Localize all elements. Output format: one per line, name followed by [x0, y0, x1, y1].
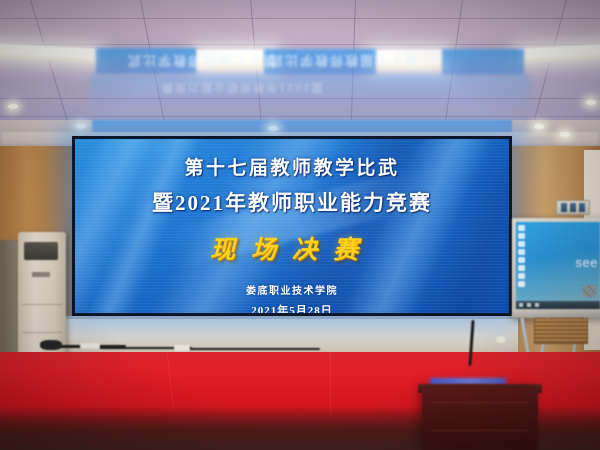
conference-hall-photo: 第十七届教师教学比武 第十七届教师教学比武 暨2021年教师职业能力竞赛	[0, 0, 600, 450]
banner-title-line-2: 暨2021年教师职业能力竞赛	[152, 187, 432, 217]
wall-air-grille	[534, 318, 588, 344]
cable-connector	[174, 345, 190, 351]
ceiling-grid-line	[0, 18, 600, 19]
taskbar-app-icon[interactable]	[527, 303, 531, 307]
podium-panel-line	[432, 402, 528, 403]
soffit-downlight	[534, 124, 544, 129]
baseboard-top-edge	[62, 316, 518, 319]
soffit-downlight	[76, 124, 86, 129]
air-conditioner-side	[0, 240, 18, 358]
led-display-surface: 第十七届教师教学比武 暨2021年教师职业能力竞赛 现场决赛 娄底职业技术学院 …	[75, 139, 509, 313]
led-display-screen: 第十七届教师教学比武 暨2021年教师职业能力竞赛 现场决赛 娄底职业技术学院 …	[72, 136, 512, 316]
soffit-downlight	[560, 132, 570, 137]
ceiling-reflection-text-row1: 第十七届教师教学比武	[126, 52, 276, 71]
led-banner-content: 第十七届教师教学比武 暨2021年教师职业能力竞赛 现场决赛 娄底职业技术学院 …	[75, 139, 509, 313]
floor-object	[496, 336, 506, 343]
air-conditioner-seam	[22, 304, 62, 305]
desktop-icon[interactable]	[518, 233, 525, 239]
banner-title-line-1: 第十七届教师教学比武	[184, 153, 399, 180]
ceiling-light-strip	[518, 43, 600, 63]
cable-connector	[80, 343, 100, 349]
banner-organization: 娄底职业技术学院	[246, 282, 338, 297]
wall-panel-cell	[570, 203, 576, 212]
ceiling-grid-line	[532, 0, 567, 128]
interactive-whiteboard[interactable]: see	[512, 218, 600, 318]
floor-cable	[190, 348, 320, 350]
banner-highlight-text: 现场决赛	[210, 230, 374, 266]
desktop-icon[interactable]	[518, 249, 525, 255]
ceiling-reflection-text-row1b: 第十七届教师教学比武	[268, 52, 418, 71]
desktop-icon[interactable]	[518, 241, 525, 247]
air-conditioner-seam	[22, 332, 62, 333]
banner-date: 2021年5月28日	[251, 302, 333, 313]
desktop-taskbar[interactable]	[516, 301, 600, 309]
ceiling-downlight	[8, 104, 18, 109]
ceiling-light-strip	[0, 43, 100, 64]
qr-code-icon	[583, 285, 596, 297]
ceiling-grid-line	[0, 116, 600, 117]
ceiling-downlight	[586, 100, 596, 105]
ceiling: 第十七届教师教学比武 第十七届教师教学比武 暨2021年教师职业能力竞赛	[0, 0, 600, 132]
ceiling-screen-reflection	[442, 49, 524, 75]
ceiling-grid-line	[0, 44, 600, 45]
speaker-podium	[422, 388, 538, 450]
desktop-icon[interactable]	[518, 273, 525, 279]
whiteboard-bottom-bezel	[512, 309, 600, 318]
wall-panel-cell	[579, 203, 585, 212]
desktop-icon-list	[518, 225, 525, 287]
wall-control-panel[interactable]	[556, 200, 590, 215]
air-conditioner-logo	[32, 272, 50, 277]
taskbar-start-icon[interactable]	[519, 303, 523, 307]
carpet-seam	[167, 352, 174, 412]
desktop-icon[interactable]	[518, 225, 525, 231]
soffit-downlight	[268, 126, 278, 131]
desktop-icon[interactable]	[518, 265, 525, 271]
desktop-icon[interactable]	[518, 257, 525, 263]
whiteboard-brand-text: see	[576, 255, 598, 270]
cable-bundle	[40, 340, 62, 350]
taskbar-app-icon[interactable]	[535, 303, 539, 307]
whiteboard-screen[interactable]: see	[516, 222, 600, 309]
desktop-icon[interactable]	[518, 281, 525, 287]
wall-panel-cell	[561, 203, 567, 212]
air-conditioner-vent	[24, 242, 58, 260]
ceiling-reflection-text-row2: 暨2021年教师职业能力竞赛	[160, 80, 322, 96]
podium-panel-line	[432, 430, 528, 431]
